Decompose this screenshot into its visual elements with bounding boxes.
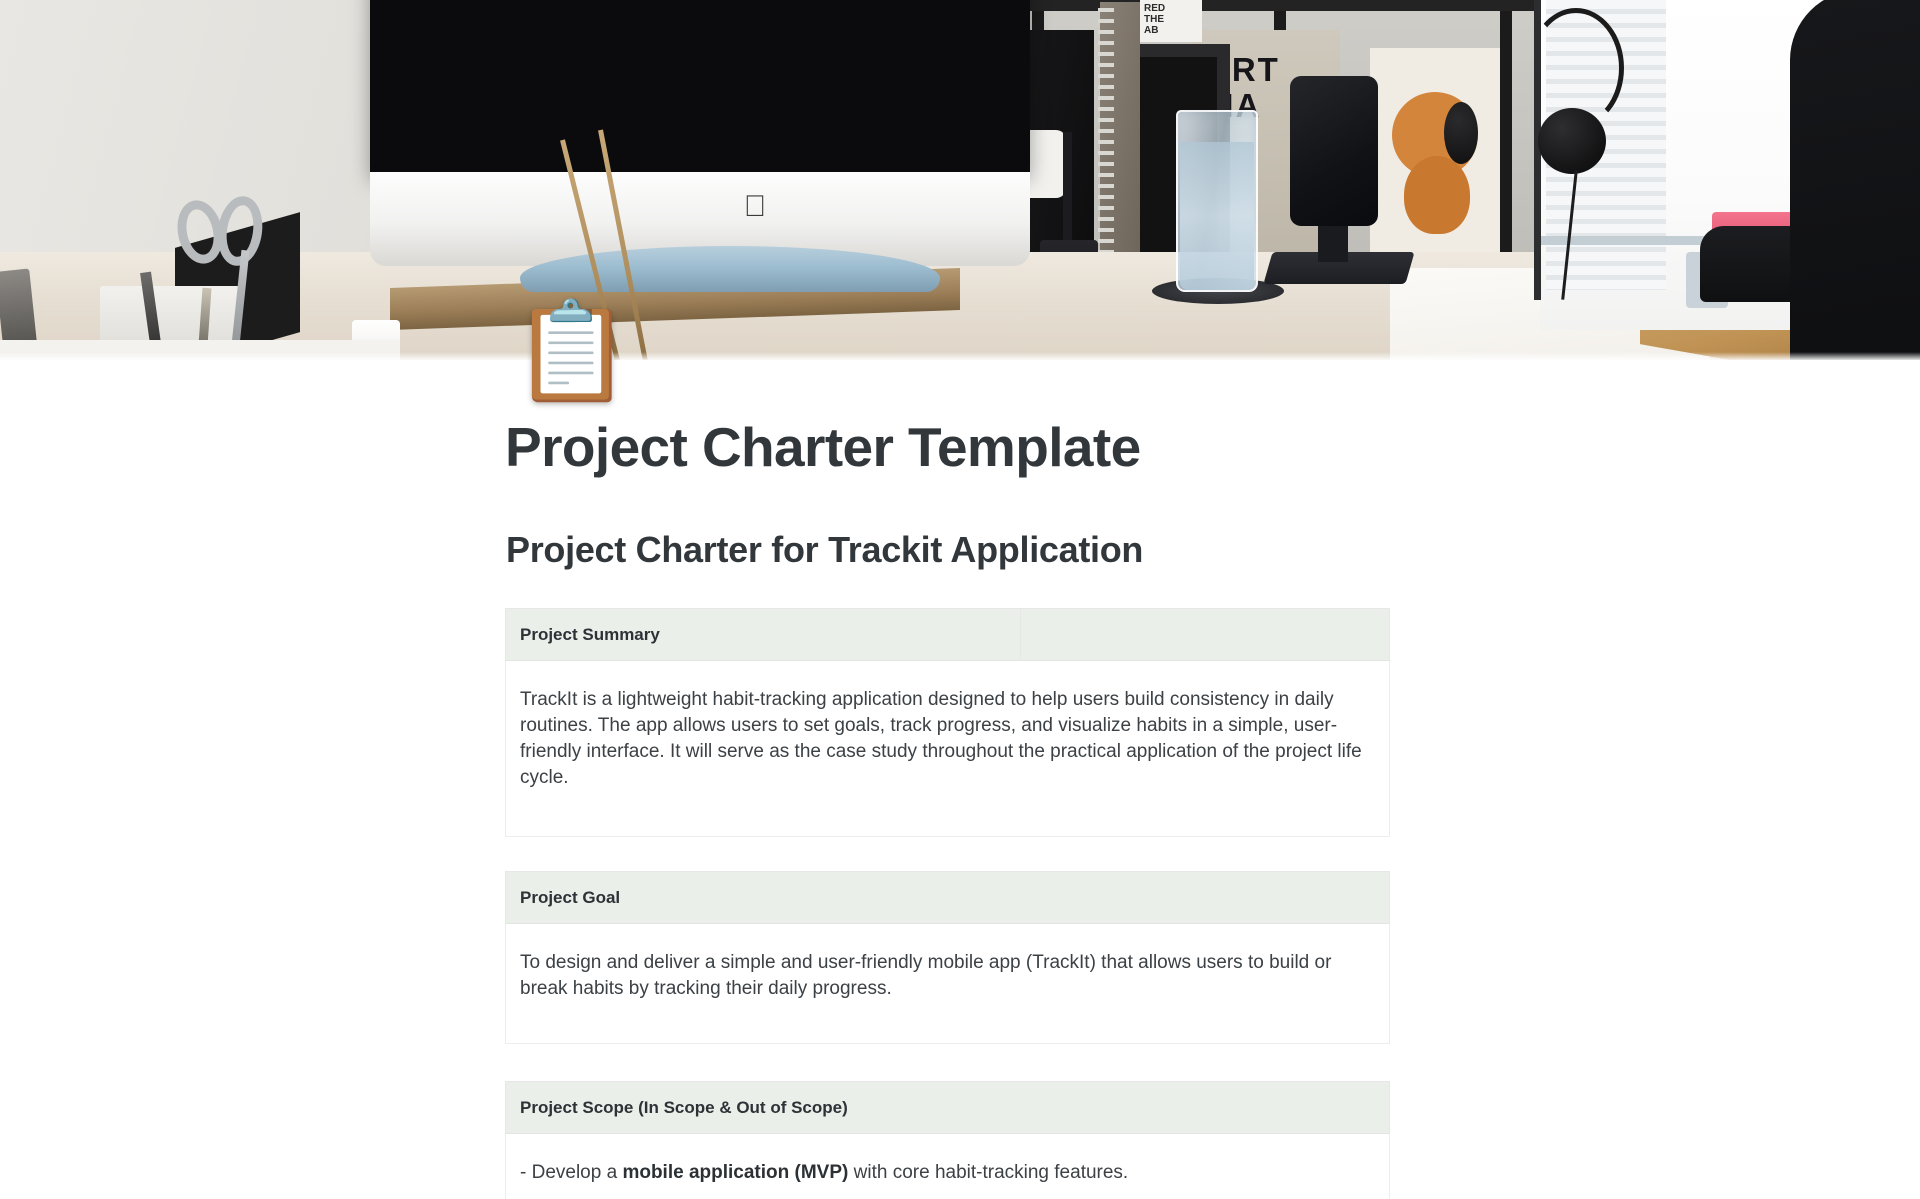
apple-logo-icon: 	[742, 192, 768, 224]
project-scope-table: Project Scope (In Scope & Out of Scope) …	[505, 1081, 1390, 1199]
section-heading: Project Charter for Trackit Application	[506, 529, 1606, 571]
headphone-earcup	[1444, 102, 1478, 164]
cover-bottom-fade	[0, 352, 1920, 360]
water-level	[1180, 142, 1254, 290]
imac-display	[370, 0, 1030, 175]
project-scope-header: Project Scope (In Scope & Out of Scope)	[506, 1082, 1390, 1134]
notebook-rings	[1098, 8, 1114, 280]
book-top-tag: REDTHEAB	[1140, 0, 1202, 42]
table-row: To design and deliver a simple and user-…	[506, 924, 1390, 1044]
phone-stand-neck	[1318, 220, 1348, 262]
headphone-earcup	[1538, 108, 1606, 174]
cover-image: ARTMA REDTHEAB 	[0, 0, 1920, 360]
table-header-row: Project Goal	[506, 872, 1390, 924]
smartphone	[1290, 76, 1378, 226]
project-summary-header: Project Summary	[506, 609, 1021, 661]
project-summary-header-spacer	[1021, 609, 1390, 661]
document-page: ARTMA REDTHEAB 	[0, 0, 1920, 1199]
abstract-art-print	[1370, 48, 1500, 253]
scope-line-prefix: - Develop a	[520, 1162, 622, 1183]
project-goal-body: To design and deliver a simple and user-…	[506, 924, 1390, 1044]
plant-stem	[1063, 132, 1072, 244]
table-header-row: Project Summary	[506, 609, 1390, 661]
project-goal-header: Project Goal	[506, 872, 1390, 924]
clipboard-icon[interactable]: 📋	[512, 298, 618, 404]
project-summary-table: Project Summary TrackIt is a lightweight…	[505, 608, 1390, 837]
page-title: Project Charter Template	[505, 416, 1605, 478]
table-header-row: Project Scope (In Scope & Out of Scope)	[506, 1082, 1390, 1134]
project-goal-table: Project Goal To design and deliver a sim…	[505, 871, 1390, 1044]
project-scope-body: - Develop a mobile application (MVP) wit…	[506, 1134, 1390, 1199]
scope-line-bold: mobile application (MVP)	[622, 1162, 848, 1183]
scope-line-suffix: with core habit-tracking features.	[848, 1162, 1128, 1183]
office-chair	[1790, 0, 1920, 360]
project-summary-body: TrackIt is a lightweight habit-tracking …	[506, 661, 1390, 837]
table-row: TrackIt is a lightweight habit-tracking …	[506, 661, 1390, 837]
table-row: - Develop a mobile application (MVP) wit…	[506, 1134, 1390, 1199]
